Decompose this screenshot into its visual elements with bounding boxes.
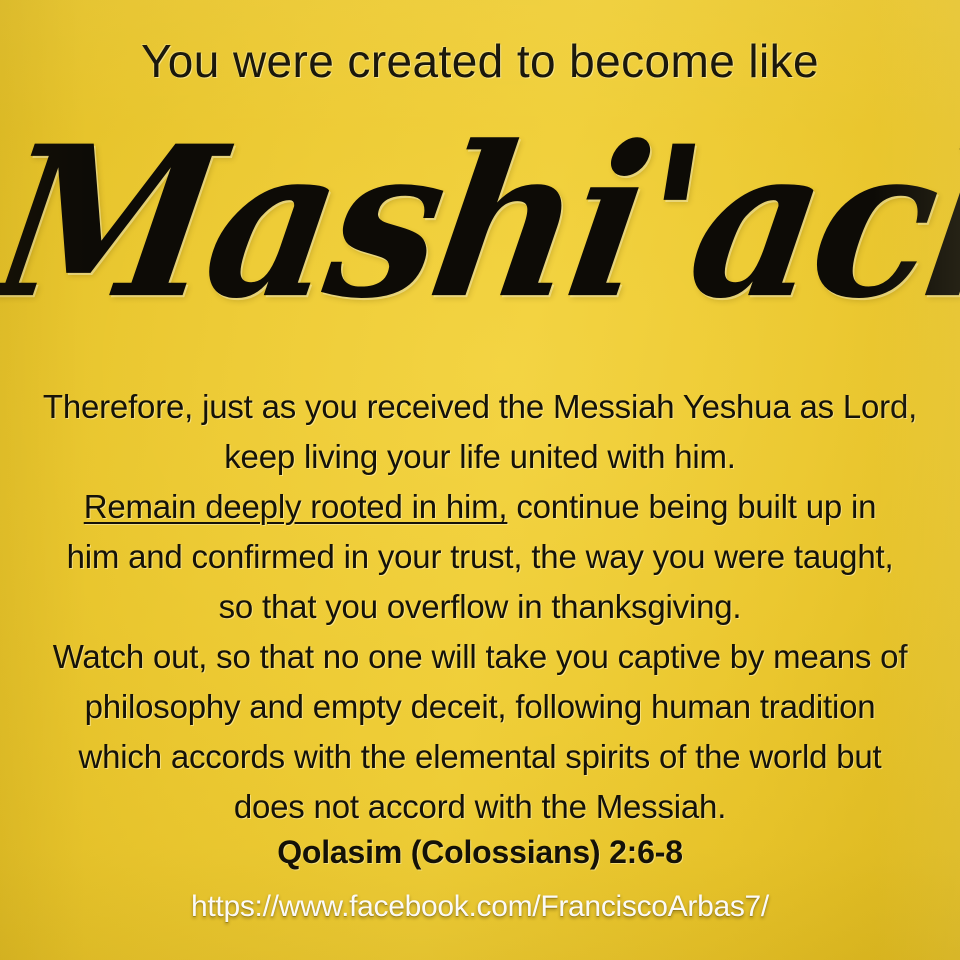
verse-line-plain-part: so that you overflow in thanksgiving.	[219, 588, 742, 625]
verse-line: so that you overflow in thanksgiving.	[0, 582, 960, 632]
feature-word-mashiach: Mashi'ach	[0, 80, 960, 366]
verse-line: Watch out, so that no one will take you …	[0, 632, 960, 682]
verse-line: Therefore, just as you received the Mess…	[0, 382, 960, 432]
verse-line: philosophy and empty deceit, following h…	[0, 682, 960, 732]
verse-line-plain-part: which accords with the elemental spirits…	[79, 738, 882, 775]
verse-line-plain-part: continue being built up in	[507, 488, 876, 525]
verse-line: Remain deeply rooted in him, continue be…	[0, 482, 960, 532]
verse-line-plain-part: Watch out, so that no one will take you …	[53, 638, 908, 675]
verse-line-plain-part: philosophy and empty deceit, following h…	[85, 688, 876, 725]
verse-line-plain-part: him and confirmed in your trust, the way…	[67, 538, 894, 575]
poster-canvas: You were created to become like Mashi'ac…	[0, 0, 960, 960]
verse-line: does not accord with the Messiah.	[0, 782, 960, 832]
verse-text-block: Therefore, just as you received the Mess…	[0, 382, 960, 832]
verse-line-underlined-part: Remain deeply rooted in him,	[84, 488, 508, 525]
verse-line-plain-part: keep living your life united with him.	[224, 438, 736, 475]
verse-line-plain-part: Therefore, just as you received the Mess…	[43, 388, 917, 425]
source-url-text[interactable]: https://www.facebook.com/FranciscoArbas7…	[0, 890, 960, 924]
verse-line-plain-part: does not accord with the Messiah.	[234, 788, 726, 825]
verse-line: keep living your life united with him.	[0, 432, 960, 482]
scripture-citation: Qolasim (Colossians) 2:6-8	[0, 834, 960, 871]
verse-line: him and confirmed in your trust, the way…	[0, 532, 960, 582]
verse-line: which accords with the elemental spirits…	[0, 732, 960, 782]
